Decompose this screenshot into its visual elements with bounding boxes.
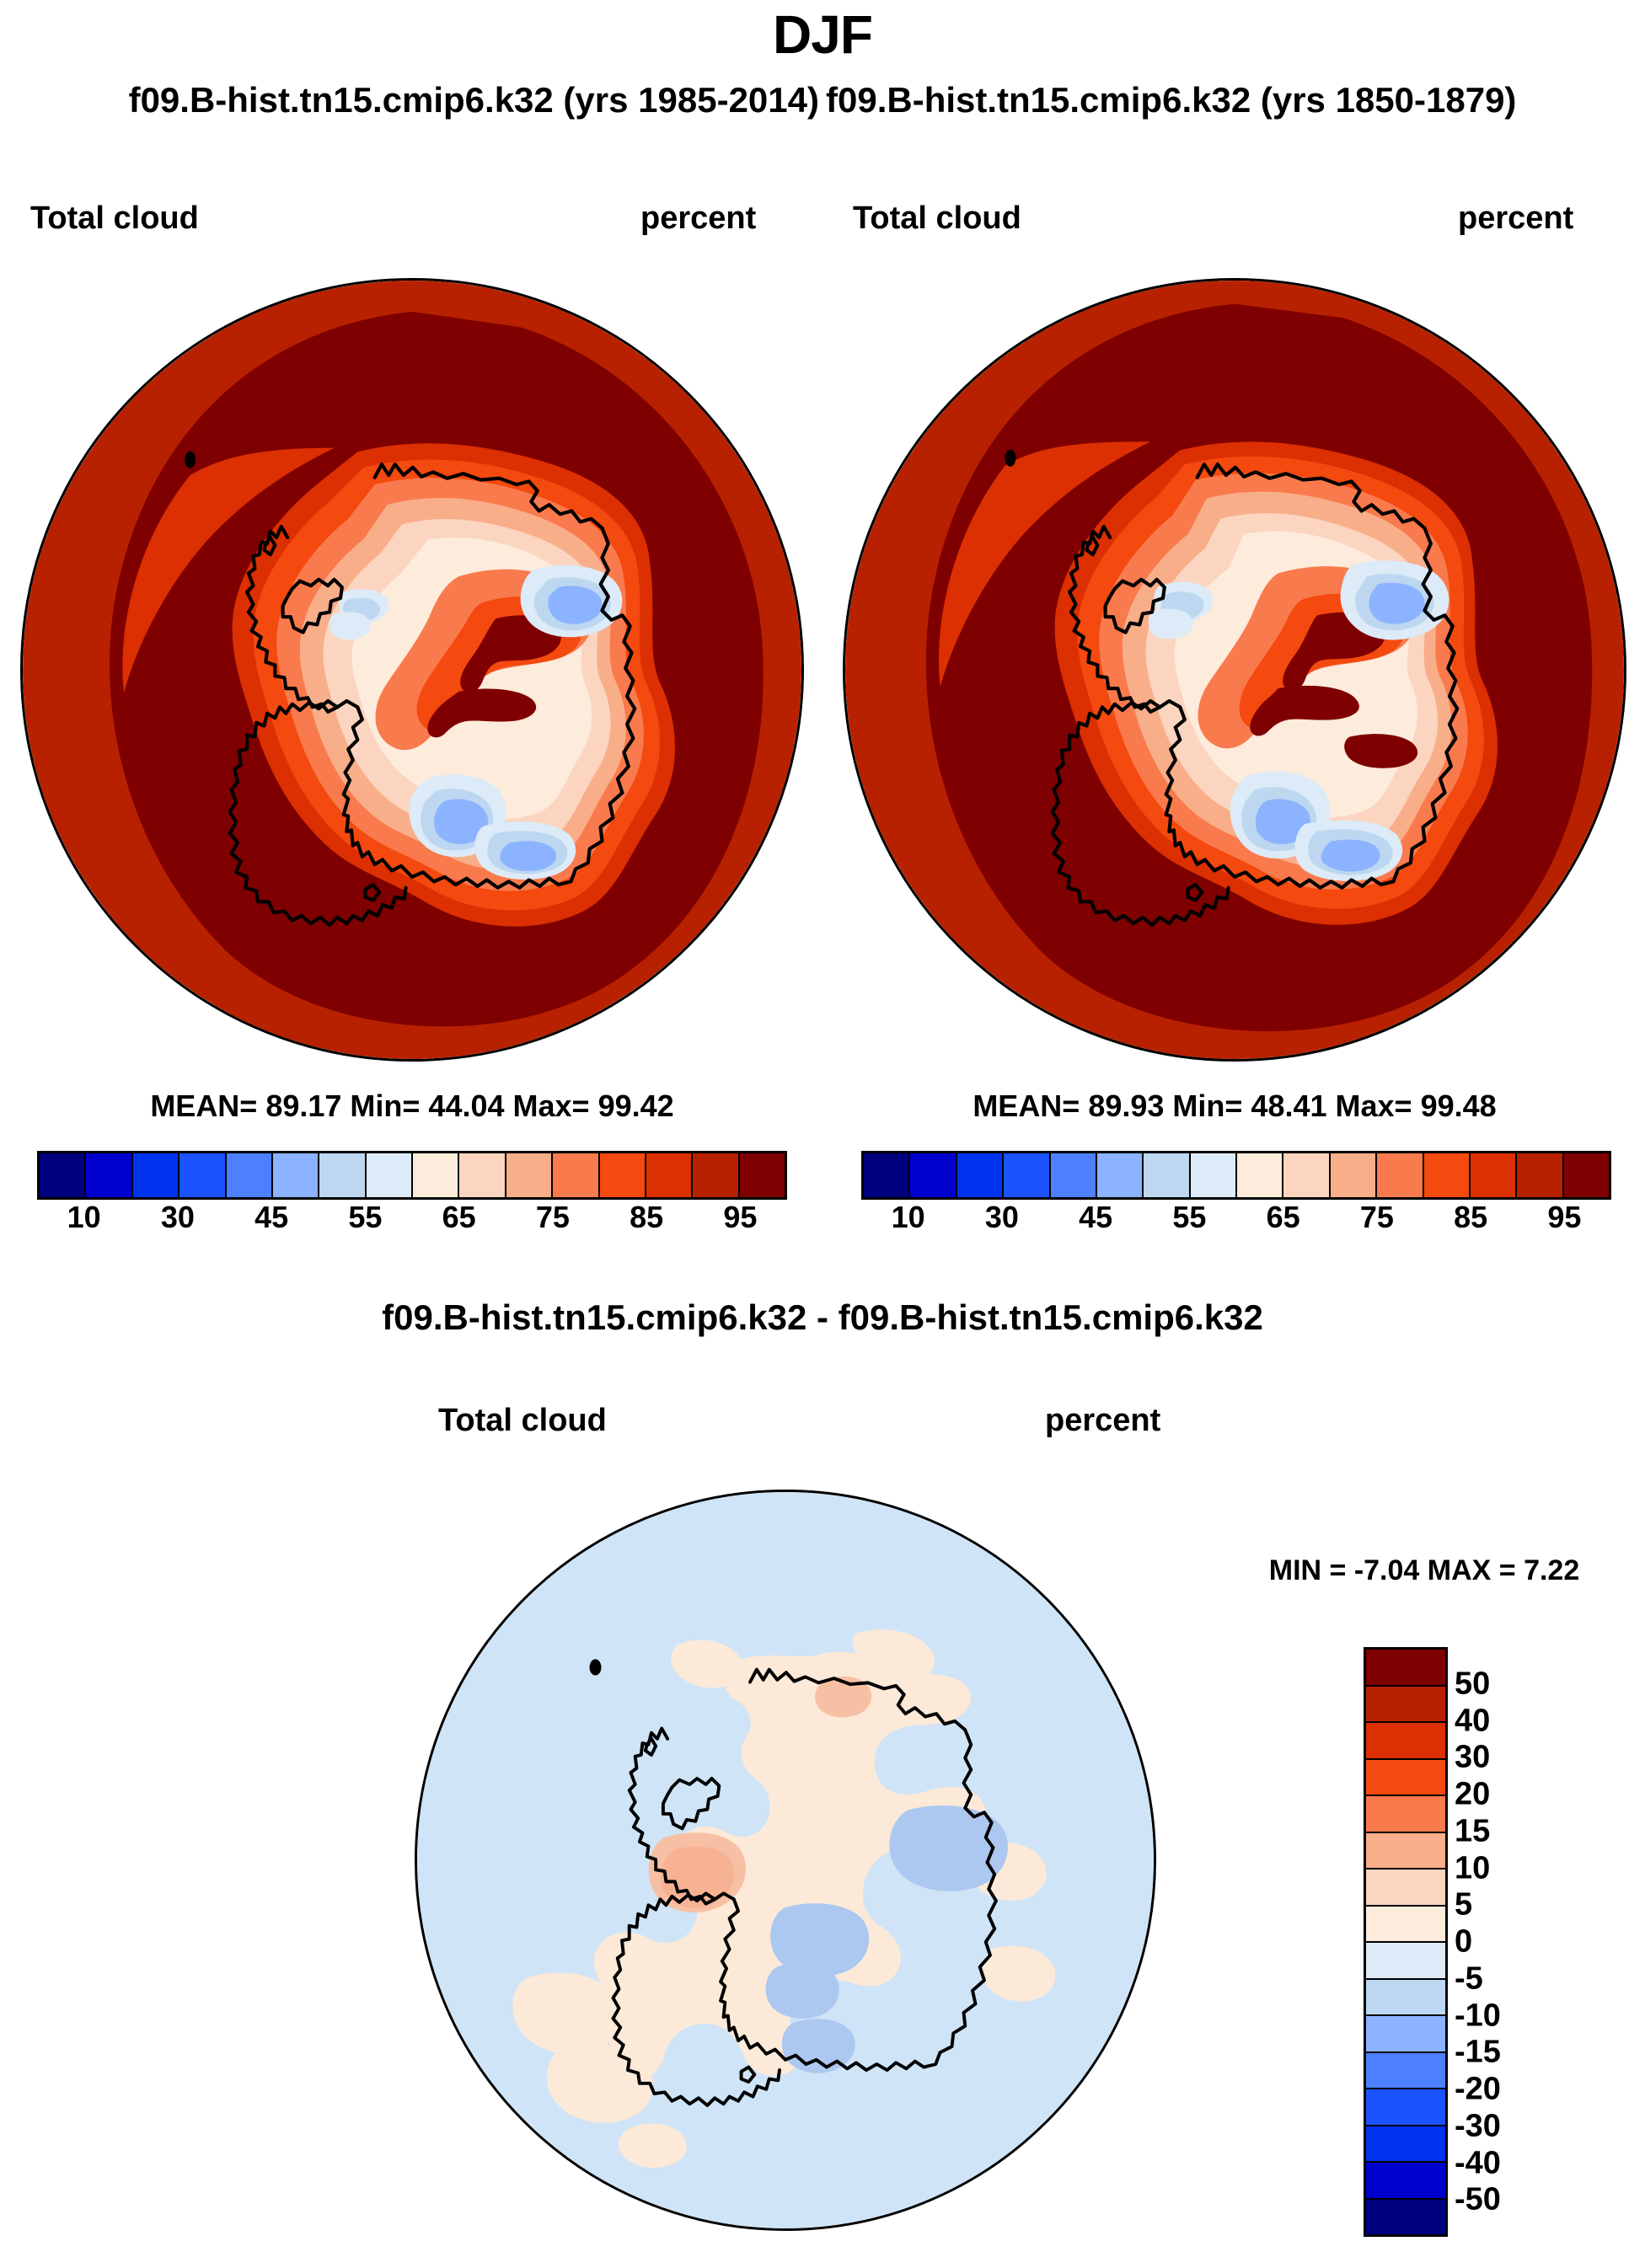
colorbar-swatch[interactable] [1331, 1153, 1377, 1197]
difference-colorbar-swatch[interactable] [1366, 1980, 1445, 2017]
colorbar-tick-label: 30 [161, 1200, 195, 1235]
colorbar-swatch[interactable] [1191, 1153, 1237, 1197]
difference-colorbar-tick-label: 20 [1455, 1777, 1490, 1813]
colorbar-swatch[interactable] [180, 1153, 226, 1197]
colorbar-tick-label: 65 [442, 1200, 476, 1235]
colorbar-swatch[interactable] [553, 1153, 599, 1197]
difference-panel-map[interactable] [415, 1490, 1156, 2231]
colorbar-swatch[interactable] [227, 1153, 273, 1197]
difference-colorbar-swatch[interactable] [1366, 2126, 1445, 2164]
difference-panel-title: f09.B-hist.tn15.cmip6.k32 - f09.B-hist.t… [0, 1297, 1645, 1338]
difference-minmax-text: MIN = -7.04 MAX = 7.22 [1214, 1554, 1635, 1587]
colorbar-swatch[interactable] [86, 1153, 132, 1197]
left-panel-stats: MEAN= 89.17 Min= 44.04 Max= 99.42 [20, 1089, 804, 1124]
left-panel-map[interactable] [20, 278, 804, 1062]
left-colorbar-ticks: 1030455565758595 [37, 1200, 787, 1244]
right-colorbar[interactable]: 1030455565758595 [861, 1151, 1611, 1244]
colorbar-swatch[interactable] [646, 1153, 693, 1197]
difference-colorbar-tick-label: -50 [1455, 2182, 1501, 2218]
difference-colorbar-swatch[interactable] [1366, 1796, 1445, 1833]
colorbar-swatch[interactable] [1283, 1153, 1330, 1197]
colorbar-swatch[interactable] [1424, 1153, 1471, 1197]
right-panel-map[interactable] [843, 278, 1626, 1062]
colorbar-tick-label: 75 [1360, 1200, 1394, 1235]
difference-colorbar-tick-label: 15 [1455, 1813, 1490, 1849]
colorbar-tick-label: 85 [1454, 1200, 1487, 1235]
colorbar-swatch[interactable] [319, 1153, 366, 1197]
colorbar-swatch[interactable] [864, 1153, 910, 1197]
colorbar-swatch[interactable] [459, 1153, 506, 1197]
left-map-contours [23, 281, 801, 1059]
colorbar-tick-label: 95 [1547, 1200, 1581, 1235]
right-colorbar-ticks: 1030455565758595 [861, 1200, 1611, 1244]
colorbar-swatch[interactable] [957, 1153, 1004, 1197]
difference-colorbar-tick-label: -20 [1455, 2072, 1501, 2108]
colorbar-tick-label: 55 [1172, 1200, 1206, 1235]
subtitle-row: f09.B-hist.tn15.cmip6.k32 (yrs 1985-2014… [0, 80, 1645, 120]
difference-colorbar-ticks: 50403020151050-5-10-15-20-30-40-50 [1455, 1647, 1615, 2237]
difference-colorbar-tick-label: 0 [1455, 1924, 1472, 1960]
difference-colorbar-swatch[interactable] [1366, 1650, 1445, 1687]
difference-colorbar-tick-label: -30 [1455, 2108, 1501, 2144]
right-colorbar-swatches[interactable] [861, 1151, 1611, 1200]
left-colorbar[interactable]: 1030455565758595 [37, 1151, 787, 1244]
difference-colorbar[interactable]: 50403020151050-5-10-15-20-30-40-50 [1364, 1647, 1616, 2237]
colorbar-swatch[interactable] [1144, 1153, 1190, 1197]
colorbar-tick-label: 65 [1267, 1200, 1300, 1235]
colorbar-tick-label: 85 [630, 1200, 663, 1235]
colorbar-swatch[interactable] [506, 1153, 553, 1197]
colorbar-swatch[interactable] [1564, 1153, 1609, 1197]
right-map-contours [845, 281, 1624, 1059]
difference-colorbar-swatch[interactable] [1366, 2089, 1445, 2126]
difference-colorbar-swatch[interactable] [1366, 1869, 1445, 1907]
difference-colorbar-swatch[interactable] [1366, 2200, 1445, 2235]
colorbar-tick-label: 10 [67, 1200, 101, 1235]
difference-colorbar-swatch[interactable] [1366, 2016, 1445, 2053]
colorbar-tick-label: 55 [348, 1200, 382, 1235]
difference-colorbar-swatch[interactable] [1366, 1760, 1445, 1797]
colorbar-tick-label: 30 [985, 1200, 1019, 1235]
difference-colorbar-tick-label: -10 [1455, 1998, 1501, 2034]
colorbar-swatch[interactable] [133, 1153, 180, 1197]
difference-colorbar-tick-label: -15 [1455, 2035, 1501, 2071]
colorbar-swatch[interactable] [273, 1153, 319, 1197]
colorbar-swatch[interactable] [1517, 1153, 1563, 1197]
difference-map-contours [417, 1492, 1154, 2228]
left-panel-variable-label: Total cloud [30, 201, 199, 237]
difference-colorbar-tick-label: -40 [1455, 2145, 1501, 2181]
difference-colorbar-swatch[interactable] [1366, 1687, 1445, 1724]
colorbar-swatch[interactable] [1237, 1153, 1283, 1197]
colorbar-swatch[interactable] [413, 1153, 459, 1197]
right-panel-stats: MEAN= 89.93 Min= 48.41 Max= 99.48 [843, 1089, 1626, 1124]
colorbar-swatch[interactable] [1471, 1153, 1517, 1197]
difference-colorbar-swatch[interactable] [1366, 2163, 1445, 2200]
right-panel-variable-label: Total cloud [853, 201, 1021, 237]
left-panel-units-label: percent [640, 201, 756, 237]
difference-colorbar-swatches[interactable] [1364, 1647, 1448, 2237]
colorbar-tick-label: 95 [723, 1200, 757, 1235]
colorbar-tick-label: 10 [892, 1200, 925, 1235]
colorbar-swatch[interactable] [1097, 1153, 1144, 1197]
subtitle-left-case: f09.B-hist.tn15.cmip6.k32 (yrs 1985-2014… [126, 80, 822, 120]
colorbar-swatch[interactable] [1051, 1153, 1097, 1197]
difference-colorbar-swatch[interactable] [1366, 1723, 1445, 1760]
page-title: DJF [0, 3, 1645, 66]
colorbar-tick-label: 45 [1079, 1200, 1112, 1235]
difference-colorbar-swatch[interactable] [1366, 1907, 1445, 1944]
right-panel-units-label: percent [1458, 201, 1573, 237]
difference-colorbar-tick-label: 40 [1455, 1703, 1490, 1739]
difference-panel-variable-label: Total cloud [438, 1403, 607, 1439]
subtitle-right-case: f09.B-hist.tn15.cmip6.k32 (yrs 1850-1879… [822, 80, 1519, 120]
colorbar-swatch[interactable] [600, 1153, 646, 1197]
difference-panel-units-label: percent [1045, 1403, 1160, 1439]
colorbar-swatch[interactable] [693, 1153, 739, 1197]
colorbar-swatch[interactable] [1004, 1153, 1050, 1197]
difference-colorbar-tick-label: 30 [1455, 1740, 1490, 1776]
difference-colorbar-swatch[interactable] [1366, 1833, 1445, 1870]
difference-colorbar-tick-label: -5 [1455, 1960, 1483, 1997]
colorbar-swatch[interactable] [40, 1153, 86, 1197]
colorbar-tick-label: 45 [255, 1200, 288, 1235]
difference-colorbar-swatch[interactable] [1366, 1943, 1445, 1980]
colorbar-swatch[interactable] [740, 1153, 785, 1197]
colorbar-swatch[interactable] [1377, 1153, 1423, 1197]
left-colorbar-swatches[interactable] [37, 1151, 787, 1200]
colorbar-tick-label: 75 [536, 1200, 570, 1235]
difference-colorbar-tick-label: 5 [1455, 1887, 1472, 1923]
colorbar-swatch[interactable] [910, 1153, 956, 1197]
difference-colorbar-tick-label: 50 [1455, 1666, 1490, 1702]
colorbar-swatch[interactable] [367, 1153, 413, 1197]
difference-colorbar-swatch[interactable] [1366, 2053, 1445, 2090]
difference-colorbar-tick-label: 10 [1455, 1850, 1490, 1886]
